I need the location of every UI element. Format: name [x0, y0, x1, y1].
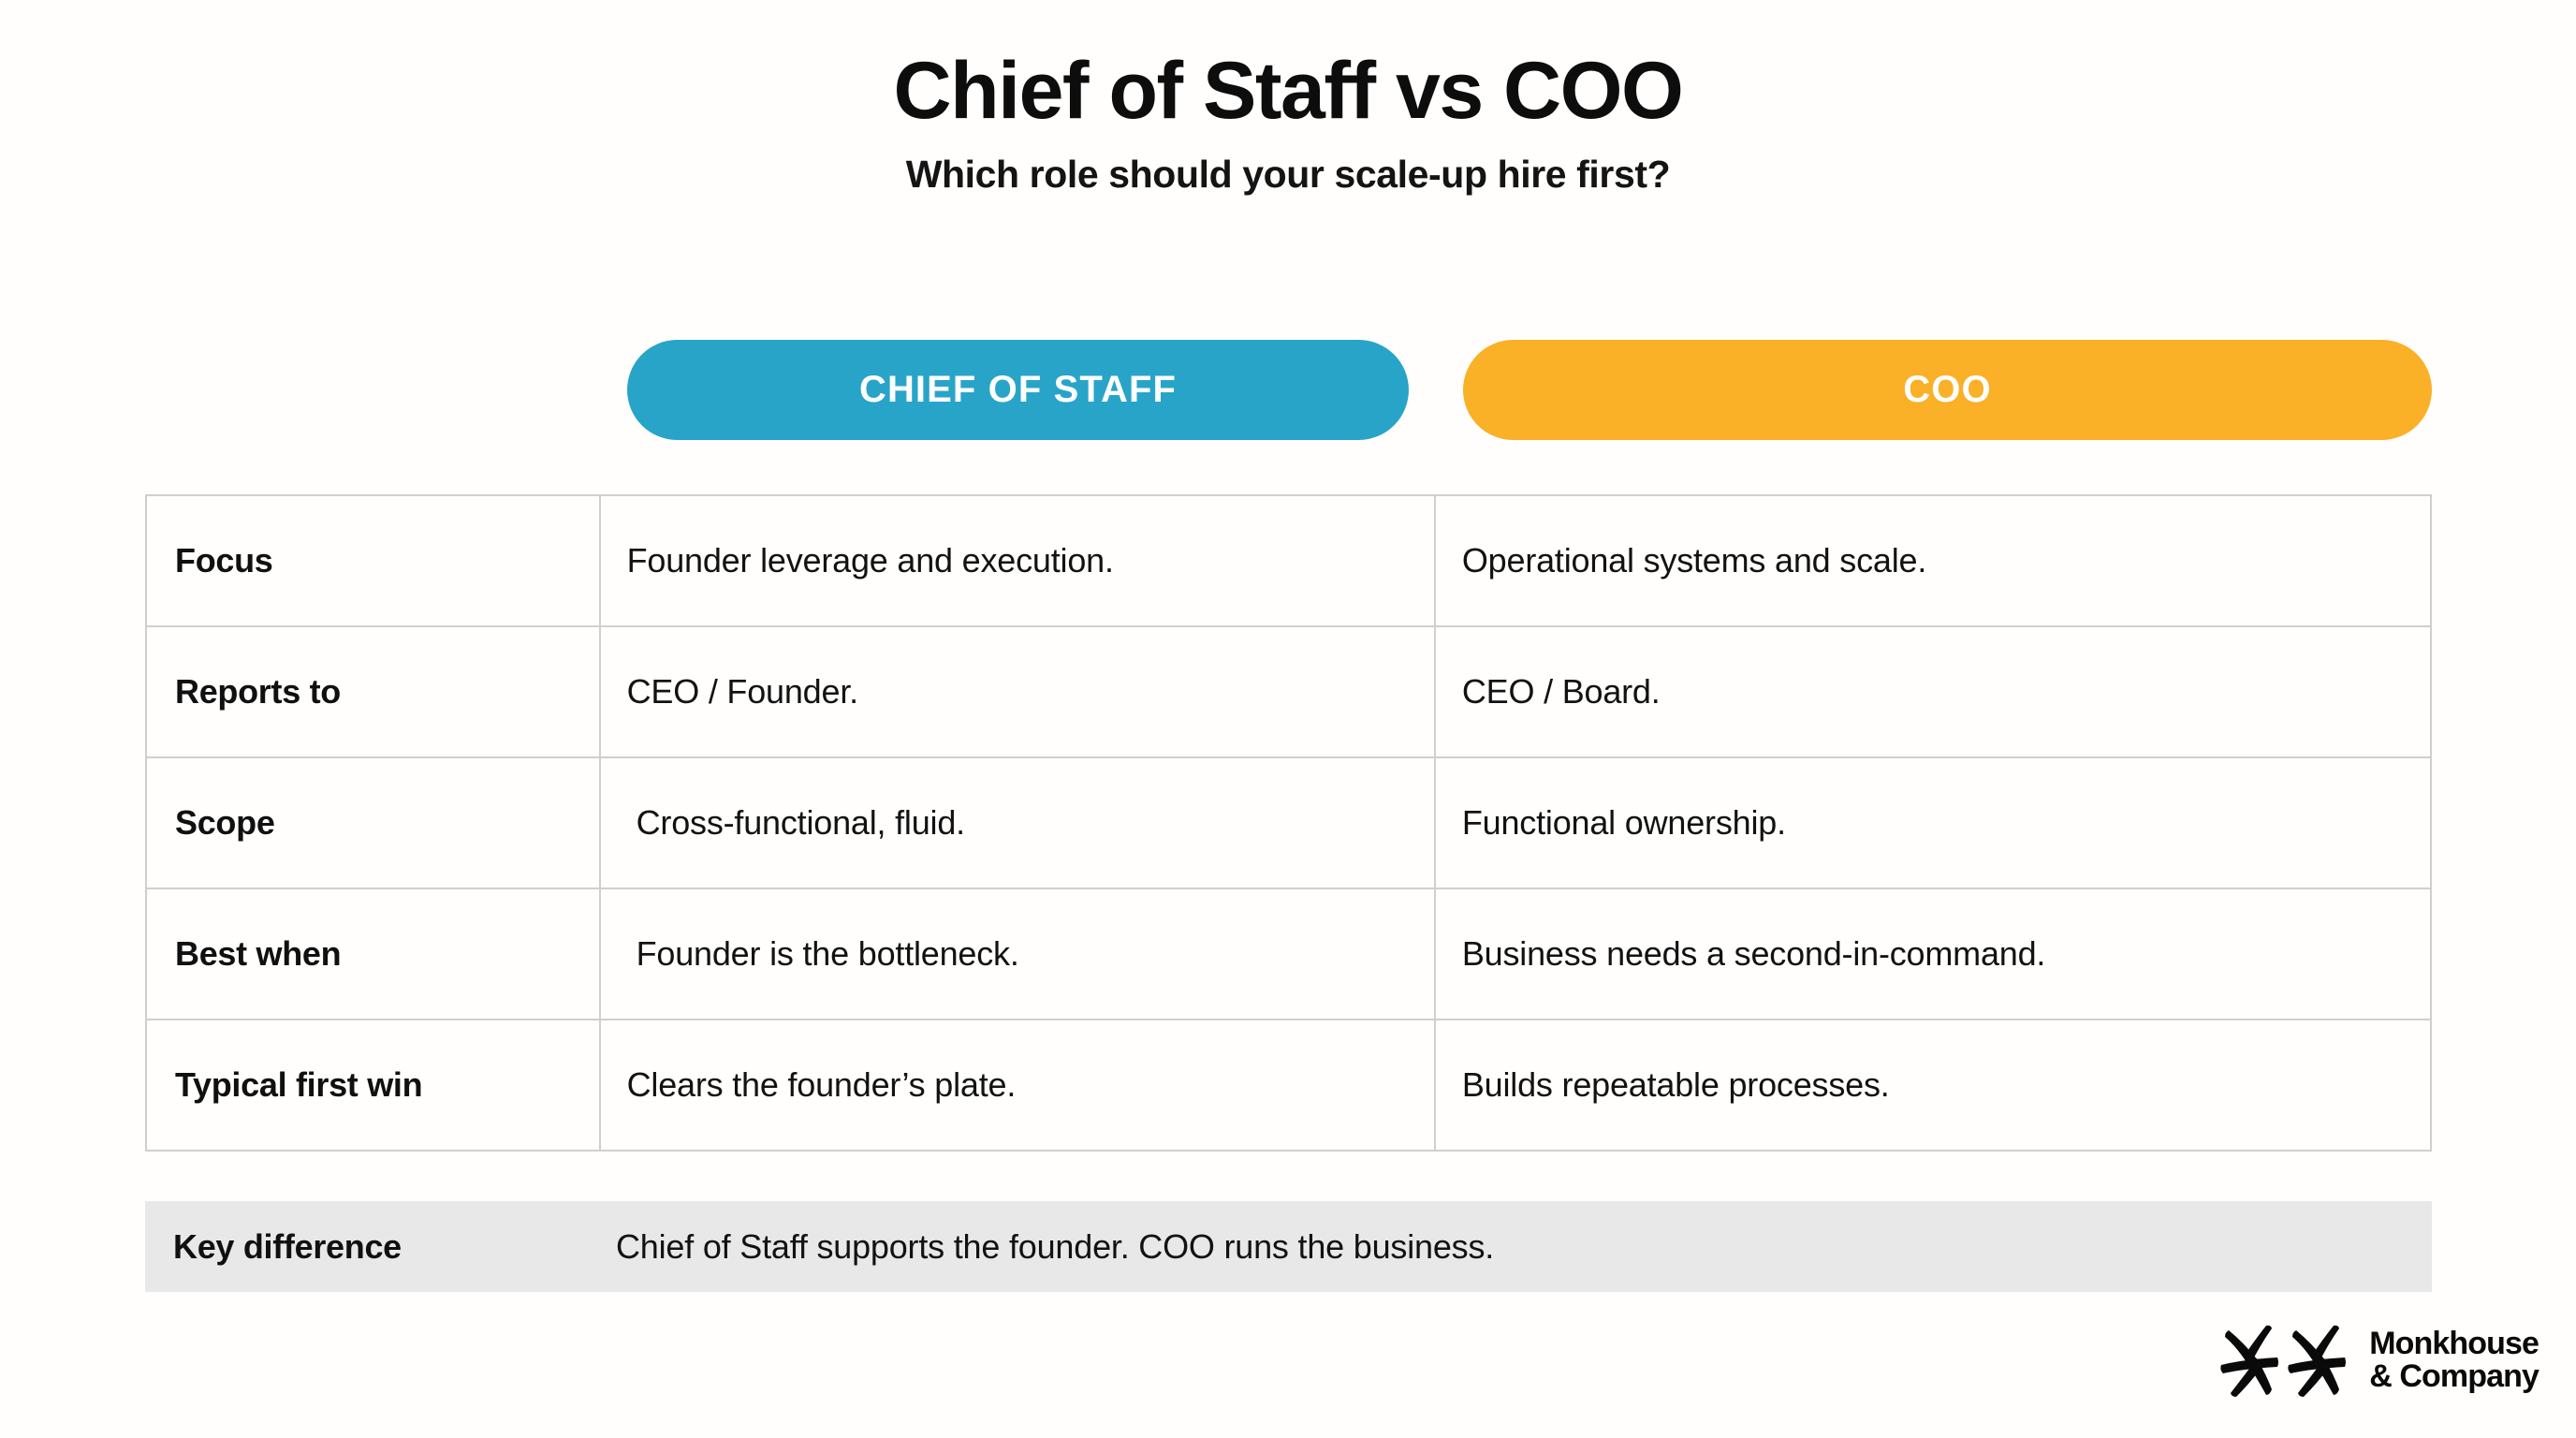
key-difference-row: Key difference Chief of Staff supports t…	[145, 1201, 2432, 1292]
row-label: Focus	[147, 496, 601, 625]
column-header-coo-label: COO	[1903, 369, 1991, 411]
row-value-chief-of-staff: Cross-functional, fluid.	[601, 758, 1436, 888]
row-value-coo: Builds repeatable processes.	[1436, 1020, 2432, 1150]
brand-wordmark-line1: Monkhouse	[2369, 1328, 2539, 1360]
row-value-coo: Operational systems and scale.	[1436, 496, 2432, 625]
column-header-chief-of-staff-label: CHIEF OF STAFF	[859, 369, 1177, 411]
table-row: Scope Cross-functional, fluid. Functiona…	[147, 758, 2432, 889]
brand-logo: Monkhouse & Company	[2216, 1320, 2539, 1401]
brand-wordmark-line2: & Company	[2369, 1360, 2539, 1393]
page-title: Chief of Staff vs COO	[0, 49, 2576, 133]
row-value-coo: Business needs a second-in-command.	[1436, 889, 2432, 1019]
key-difference-label: Key difference	[145, 1227, 599, 1267]
row-value-chief-of-staff: Clears the founder’s plate.	[601, 1020, 1436, 1150]
table-row: Reports to CEO / Founder. CEO / Board.	[147, 627, 2432, 758]
column-header-pills: CHIEF OF STAFF COO	[145, 340, 2432, 440]
comparison-table: Focus Founder leverage and execution. Op…	[145, 494, 2432, 1152]
column-header-chief-of-staff: CHIEF OF STAFF	[627, 340, 1409, 440]
table-row: Typical first win Clears the founder’s p…	[147, 1020, 2432, 1152]
page-subtitle: Which role should your scale-up hire fir…	[0, 154, 2576, 196]
row-value-coo: Functional ownership.	[1436, 758, 2432, 888]
header: Chief of Staff vs COO Which role should …	[0, 49, 2576, 196]
row-value-chief-of-staff: CEO / Founder.	[601, 627, 1436, 756]
row-value-chief-of-staff: Founder leverage and execution.	[601, 496, 1436, 625]
column-header-coo: COO	[1463, 340, 2432, 440]
row-label: Reports to	[147, 627, 601, 756]
double-asterisk-icon	[2216, 1320, 2356, 1401]
key-difference-text: Chief of Staff supports the founder. COO…	[599, 1227, 1494, 1267]
row-value-coo: CEO / Board.	[1436, 627, 2432, 756]
table-row: Focus Founder leverage and execution. Op…	[147, 496, 2432, 627]
table-row: Best when Founder is the bottleneck. Bus…	[147, 889, 2432, 1020]
brand-wordmark: Monkhouse & Company	[2369, 1328, 2539, 1394]
row-label: Best when	[147, 889, 601, 1019]
row-value-chief-of-staff: Founder is the bottleneck.	[601, 889, 1436, 1019]
row-label: Scope	[147, 758, 601, 888]
row-label: Typical first win	[147, 1020, 601, 1150]
